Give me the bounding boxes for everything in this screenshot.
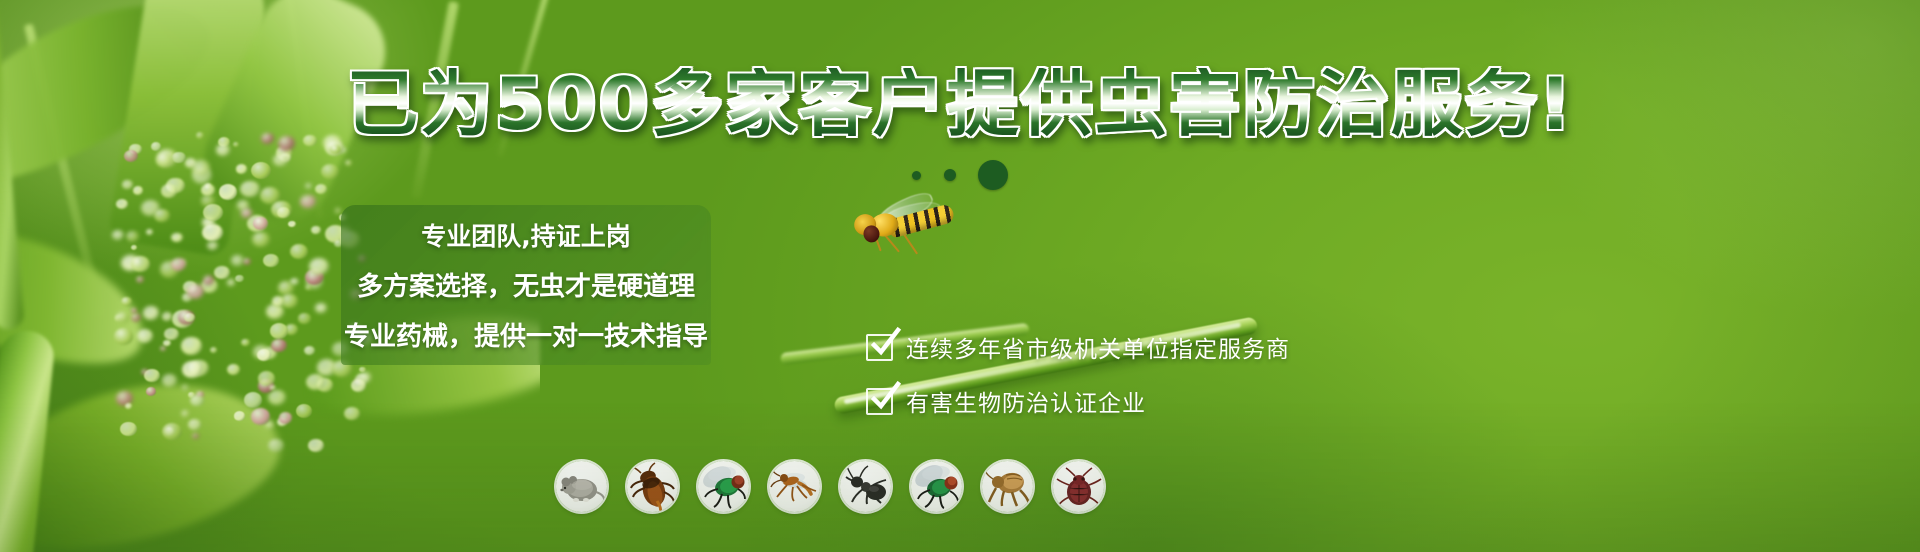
seed-bud <box>210 347 217 353</box>
seed-bud <box>258 371 276 386</box>
seed-bud <box>214 266 229 279</box>
seed-bud <box>252 232 270 247</box>
seed-bud <box>344 407 359 420</box>
seed-bud <box>126 231 139 242</box>
mosquito-icon <box>769 461 820 512</box>
seed-bud <box>182 361 201 378</box>
seed-bud <box>182 385 188 390</box>
seed-bud <box>162 423 182 440</box>
blowfly-icon <box>911 461 962 512</box>
seed-bud <box>184 313 195 322</box>
seed-bud <box>268 390 286 405</box>
seed-bud <box>146 229 153 235</box>
seed-bud <box>330 145 340 154</box>
seed-bud <box>309 258 330 275</box>
seed-bud <box>300 195 316 208</box>
seed-bud <box>227 364 241 376</box>
pest-types-row <box>556 461 1104 512</box>
cockroach-icon <box>627 461 678 512</box>
seed-bud <box>244 392 262 408</box>
insect-leg <box>902 232 918 255</box>
seed-bud <box>181 337 201 354</box>
seed-bud <box>187 284 204 298</box>
seed-bud <box>202 224 222 241</box>
banner-headline-text: 已为500多家客户提供虫害防治服务! <box>346 68 1573 140</box>
seed-bud <box>243 258 252 265</box>
seed-bud <box>251 408 271 425</box>
seed-bud <box>279 412 292 423</box>
seed-bud <box>154 209 170 223</box>
seed-bud <box>241 339 250 347</box>
seed-bud <box>271 339 287 353</box>
seed-bud <box>190 395 203 406</box>
seed-bud <box>203 204 223 221</box>
seed-bud <box>164 328 179 341</box>
credentials-checklist: 连续多年省市级机关单位指定服务商 有害生物防治认证企业 <box>866 330 1290 438</box>
seed-bud <box>136 276 144 283</box>
seed-bud <box>257 349 271 361</box>
seed-bud <box>188 419 201 430</box>
seed-bud <box>305 285 312 291</box>
seed-bud <box>137 329 153 343</box>
seed-bud <box>296 404 312 418</box>
flea-icon <box>982 461 1033 512</box>
seed-bud <box>112 230 124 240</box>
seed-bud <box>277 207 290 218</box>
seed-bud <box>116 199 128 209</box>
seed-bud <box>125 403 132 409</box>
features-panel-text: 专业团队,持证上岗 多方案选择，无虫才是硬道理 专业药械，提供一对一技术指导 <box>341 205 711 365</box>
seed-bud <box>268 439 284 452</box>
seed-bud <box>270 323 288 338</box>
seed-bud <box>315 303 327 313</box>
seed-bud <box>298 313 310 323</box>
fly-icon <box>698 461 749 512</box>
seed-bud <box>114 328 134 345</box>
seed-bud <box>351 379 366 392</box>
seed-bud <box>131 313 141 321</box>
seed-bud <box>162 312 172 321</box>
checklist-item: 有害生物防治认证企业 <box>866 384 1290 418</box>
seed-bud <box>171 258 186 271</box>
seed-bud <box>116 312 129 323</box>
seed-bud <box>151 142 161 151</box>
dot-small <box>912 171 921 180</box>
seed-bud <box>253 217 268 230</box>
seed-bud <box>144 369 160 383</box>
bedbug-icon <box>1053 461 1104 512</box>
seed-bud <box>272 296 285 307</box>
feature-line-3: 专业药械，提供一对一技术指导 <box>344 316 708 353</box>
checkbox-checked-icon <box>866 334 893 361</box>
seed-bud <box>304 346 315 355</box>
seed-bud <box>162 374 177 386</box>
checkbox-checked-icon <box>866 388 893 415</box>
seed-bud <box>308 439 324 453</box>
seed-bud <box>288 221 296 228</box>
seed-bud <box>227 279 236 286</box>
seed-bud <box>263 254 279 268</box>
seed-bud <box>146 387 156 396</box>
seed-bud <box>216 144 230 156</box>
seed-bud <box>234 411 245 421</box>
seed-bud <box>207 241 218 250</box>
checklist-item: 连续多年省市级机关单位指定服务商 <box>866 330 1290 364</box>
dot-medium <box>944 169 956 181</box>
checklist-item-label: 连续多年省市级机关单位指定服务商 <box>906 330 1290 364</box>
banner-headline: 已为500多家客户提供虫害防治服务! <box>0 68 1920 141</box>
seed-bud <box>143 306 159 320</box>
seed-bud <box>131 256 150 272</box>
seed-bud <box>233 142 239 147</box>
seed-bud <box>192 433 199 439</box>
feature-line-2: 多方案选择，无虫才是硬道理 <box>357 266 695 303</box>
insect-leg <box>884 234 900 252</box>
seed-bud <box>290 244 308 259</box>
checklist-item-label: 有害生物防治认证企业 <box>906 384 1146 418</box>
seed-bud <box>121 297 131 306</box>
seed-bud <box>181 410 190 418</box>
seed-bud <box>160 346 166 351</box>
decorative-dots <box>0 160 1920 190</box>
dot-large <box>978 160 1008 190</box>
pest-control-banner: 已为500多家客户提供虫害防治服务! 专业团队,持证上岗 多方案选择，无虫才是硬… <box>0 0 1920 552</box>
feature-line-1: 专业团队,持证上岗 <box>421 217 631 253</box>
seed-bud <box>171 233 182 243</box>
seed-bud <box>311 226 321 234</box>
seed-bud <box>290 278 299 286</box>
ant-icon <box>840 461 891 512</box>
seed-bud <box>235 275 244 282</box>
mouse-icon <box>556 461 607 512</box>
seed-bud <box>131 245 137 250</box>
seed-bud <box>120 422 137 437</box>
